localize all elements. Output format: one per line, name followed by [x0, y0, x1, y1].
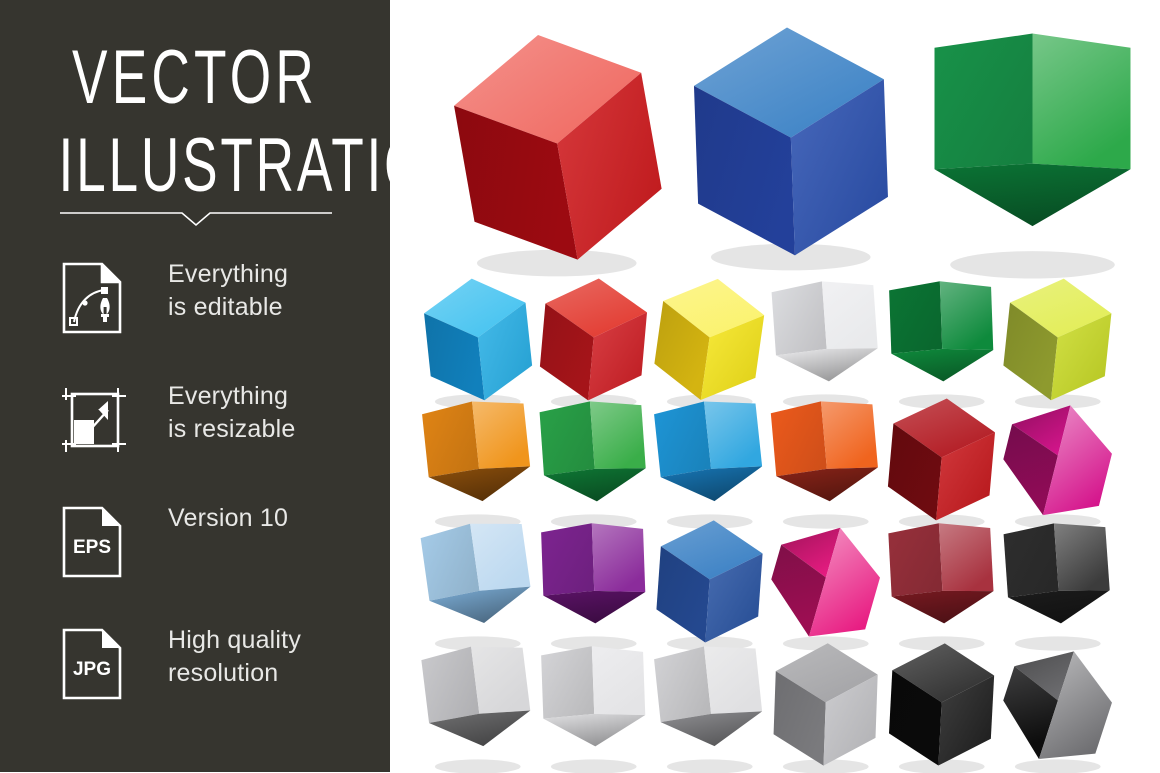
cube-light-gray-2 [530, 635, 658, 773]
cube-olive [994, 270, 1122, 408]
cube-rose [878, 512, 1006, 650]
cube-orange [414, 390, 542, 528]
cube-blue-large [672, 12, 910, 269]
cube-white [762, 270, 890, 408]
cube-orange-red [762, 390, 890, 528]
jpg-file-icon-label: JPG [73, 659, 111, 680]
cube-royal-blue [646, 512, 774, 650]
feature-item-eps: EPS Version 10 [0, 502, 390, 624]
feature-list: Everything is editable Everything is re [0, 258, 390, 746]
cube-green [530, 390, 658, 528]
cube-magenta [994, 390, 1122, 528]
cube-red [530, 270, 658, 408]
cube-purple [530, 512, 658, 650]
cube-light-gray-3 [646, 635, 774, 773]
feature-label-quality: High quality resolution [168, 624, 301, 690]
feature-item-resizable: Everything is resizable [0, 380, 390, 502]
cube-black [878, 635, 1006, 773]
poster-stage: VECTOR ILLUSTRATION [0, 0, 1160, 772]
cube-artwork-canvas [390, 0, 1160, 772]
title-line-2: ILLUSTRATION [59, 128, 332, 204]
feature-label-version: Version 10 [168, 502, 288, 535]
cube-light-gray-1 [414, 635, 542, 773]
cube-yellow [646, 270, 774, 408]
feature-label-editable: Everything is editable [168, 258, 288, 324]
cube-mid-gray [762, 635, 890, 773]
document-pen-tool-icon [62, 262, 130, 338]
jpg-file-icon: JPG [62, 628, 130, 704]
page-title: VECTOR ILLUSTRATION [0, 40, 390, 204]
feature-item-editable: Everything is editable [0, 258, 390, 380]
cube-dark-green [878, 270, 1006, 408]
divider-with-chevron [60, 205, 332, 229]
feature-label-resizable: Everything is resizable [168, 380, 295, 446]
cube-gray-black [994, 635, 1122, 773]
feature-item-jpg: JPG High quality resolution [0, 624, 390, 746]
cube-red-large [438, 18, 676, 275]
resize-arrow-crop-icon [62, 384, 130, 460]
cube-light-blue [646, 390, 774, 528]
cube-dark-gray [994, 512, 1122, 650]
eps-file-icon-label: EPS [73, 537, 111, 558]
eps-file-icon: EPS [62, 506, 130, 582]
cube-pale-blue [414, 512, 542, 650]
cube-pink [762, 512, 890, 650]
cube-sky-blue [414, 270, 542, 408]
cube-dark-red [878, 390, 1006, 528]
sidebar-panel: VECTOR ILLUSTRATION [0, 0, 390, 772]
title-line-1: VECTOR [59, 40, 332, 116]
cube-green-large [910, 12, 1155, 277]
